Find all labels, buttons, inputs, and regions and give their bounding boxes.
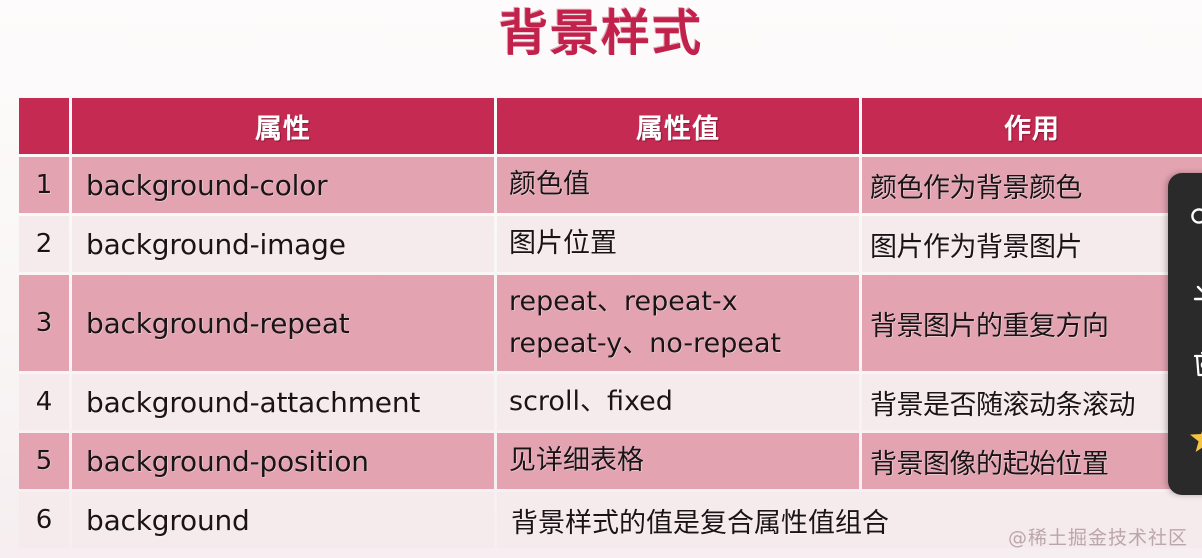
row-property: background-image: [72, 216, 494, 272]
row-effect: 图片作为背景图片: [862, 216, 1202, 272]
table-row: 2 background-image 图片位置 图片作为背景图片: [19, 216, 1202, 272]
row-property: background-color: [72, 157, 494, 213]
download-icon[interactable]: [1188, 273, 1202, 307]
row-value-line: scroll、fixed: [509, 381, 859, 423]
row-index: 2: [19, 216, 69, 272]
star-icon[interactable]: [1188, 421, 1202, 455]
watermark: @稀土掘金技术社区: [1008, 523, 1188, 550]
column-header-effect: 作用: [862, 98, 1202, 154]
table-header: 属性 属性值 作用: [19, 98, 1202, 154]
slide-canvas: 背景样式 属性 属性值 作用 1 background-color 颜: [0, 0, 1202, 558]
table-row: 3 background-repeat repeat、repeat-x repe…: [19, 275, 1202, 371]
row-property: background-position: [72, 433, 494, 489]
row-value: 图片位置: [497, 216, 859, 272]
column-header-property: 属性: [72, 98, 494, 154]
column-header-value: 属性值: [497, 98, 859, 154]
background-style-table-wrapper: 属性 属性值 作用 1 background-color 颜色值 颜色作为背景颜…: [16, 95, 1202, 551]
row-index: 4: [19, 374, 69, 430]
trash-icon[interactable]: [1188, 347, 1202, 381]
row-index: 5: [19, 433, 69, 489]
row-value-line: 颜色值: [509, 164, 859, 206]
row-effect: 背景图像的起始位置: [862, 433, 1202, 489]
row-property: background: [72, 492, 494, 548]
table-row: 1 background-color 颜色值 颜色作为背景颜色: [19, 157, 1202, 213]
row-value: 见详细表格: [497, 433, 859, 489]
row-index: 3: [19, 275, 69, 371]
background-style-table: 属性 属性值 作用 1 background-color 颜色值 颜色作为背景颜…: [16, 95, 1202, 551]
row-property: background-attachment: [72, 374, 494, 430]
row-value: repeat、repeat-x repeat-y、no-repeat: [497, 275, 859, 371]
table-header-row: 属性 属性值 作用: [19, 98, 1202, 154]
row-value-line: 图片位置: [509, 223, 859, 265]
row-index: 6: [19, 492, 69, 548]
table-row: 4 background-attachment scroll、fixed 背景是…: [19, 374, 1202, 430]
column-header-index: [19, 98, 69, 154]
row-value: 颜色值: [497, 157, 859, 213]
row-index: 1: [19, 157, 69, 213]
row-value-line: repeat、repeat-x: [509, 281, 859, 323]
row-effect: 背景图片的重复方向: [862, 275, 1202, 371]
page-title: 背景样式: [0, 0, 1202, 70]
table-body: 1 background-color 颜色值 颜色作为背景颜色 2 backgr…: [19, 157, 1202, 548]
loop-icon[interactable]: [1188, 199, 1202, 233]
row-effect: 背景是否随滚动条滚动: [862, 374, 1202, 430]
row-property: background-repeat: [72, 275, 494, 371]
table-row: 5 background-position 见详细表格 背景图像的起始位置: [19, 433, 1202, 489]
player-side-dock[interactable]: [1168, 173, 1202, 495]
row-effect: 颜色作为背景颜色: [862, 157, 1202, 213]
row-value-line: repeat-y、no-repeat: [509, 323, 859, 365]
row-value-line: 见详细表格: [509, 440, 859, 482]
row-value: scroll、fixed: [497, 374, 859, 430]
